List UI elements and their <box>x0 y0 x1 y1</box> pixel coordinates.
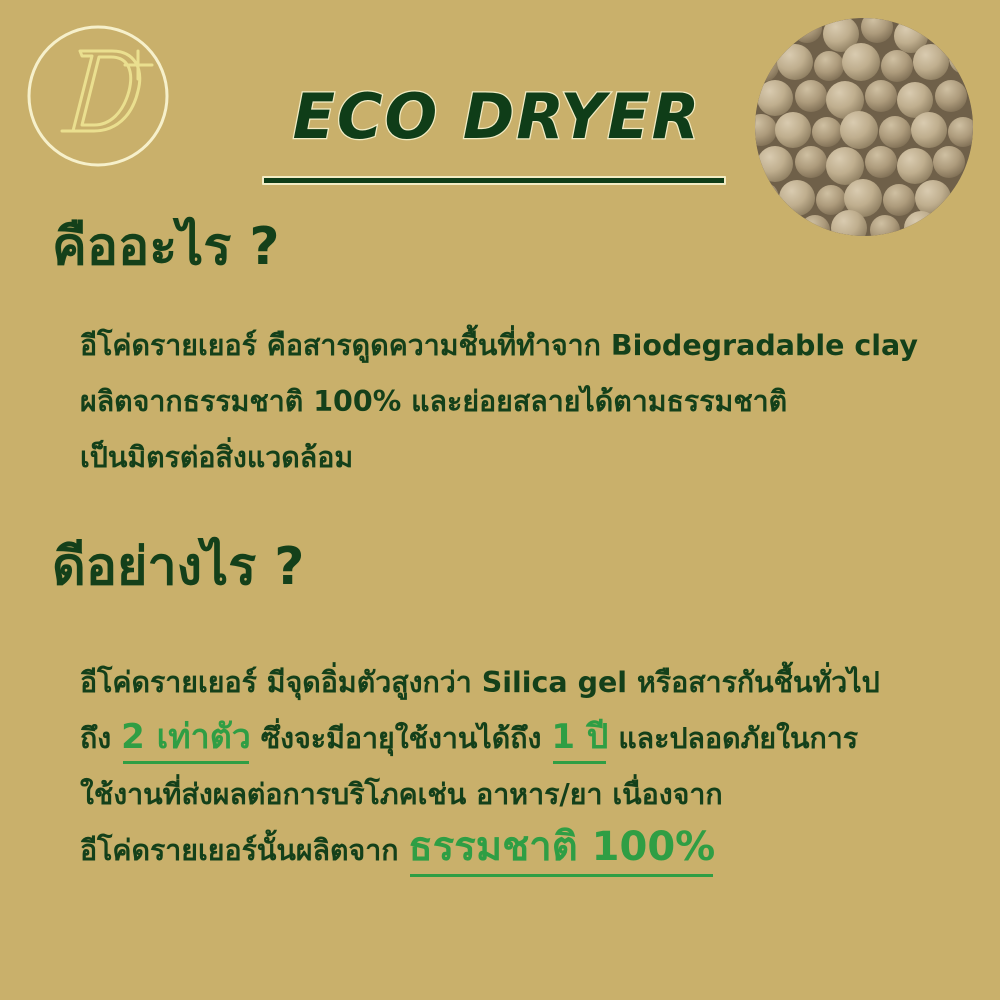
body-line: เป็นมิตรต่อสิ่งแวดล้อม <box>80 430 980 486</box>
section-heading-what: คืออะไร ? <box>52 218 280 278</box>
body-text: อีโค่ดรายเยอร์นั้นผลิตจาก <box>80 834 408 867</box>
d-plus-monogram-icon <box>20 18 176 174</box>
body-line: อีโค่ดรายเยอร์ มีจุดอิ่มตัวสูงกว่า Silic… <box>80 655 980 711</box>
body-text: ถึง <box>80 722 121 755</box>
highlight-2x: 2 เท่าตัว <box>121 720 251 754</box>
body-line: ผลิตจากธรรมชาติ 100% และย่อยสลายได้ตามธร… <box>80 374 980 430</box>
product-photo <box>755 18 973 236</box>
body-line: อีโค่ดรายเยอร์ คือสารดูดความชื้นที่ทำจาก… <box>80 318 980 374</box>
body-text: และปลอดภัยในการ <box>608 722 858 755</box>
body-line: ถึง 2 เท่าตัว ซึ่งจะมีอายุใช้งานได้ถึง 1… <box>80 711 980 767</box>
section-body-what: อีโค่ดรายเยอร์ คือสารดูดความชื้นที่ทำจาก… <box>80 318 980 486</box>
highlight-1-year: 1 ปี <box>551 720 608 754</box>
highlight-natural-100: ธรรมชาติ 100% <box>408 827 715 867</box>
clay-pellets-image <box>755 18 973 236</box>
poster-canvas: ECO DRYER คืออะไร ? อีโค่ดรายเยอร์ คือสา… <box>0 0 1000 1000</box>
title-underline-rule <box>262 176 726 185</box>
body-text: ซึ่งจะมีอายุใช้งานได้ถึง <box>251 722 551 755</box>
body-line: ใช้งานที่ส่งผลต่อการบริโภคเช่น อาหาร/ยา … <box>80 767 980 823</box>
page-title: ECO DRYER <box>262 86 732 148</box>
title-block: ECO DRYER <box>262 86 732 148</box>
section-body-why: อีโค่ดรายเยอร์ มีจุดอิ่มตัวสูงกว่า Silic… <box>80 655 980 879</box>
body-line: อีโค่ดรายเยอร์นั้นผลิตจาก ธรรมชาติ 100% <box>80 823 980 879</box>
brand-logo <box>20 18 176 174</box>
section-heading-why: ดีอย่างไร ? <box>52 538 304 598</box>
